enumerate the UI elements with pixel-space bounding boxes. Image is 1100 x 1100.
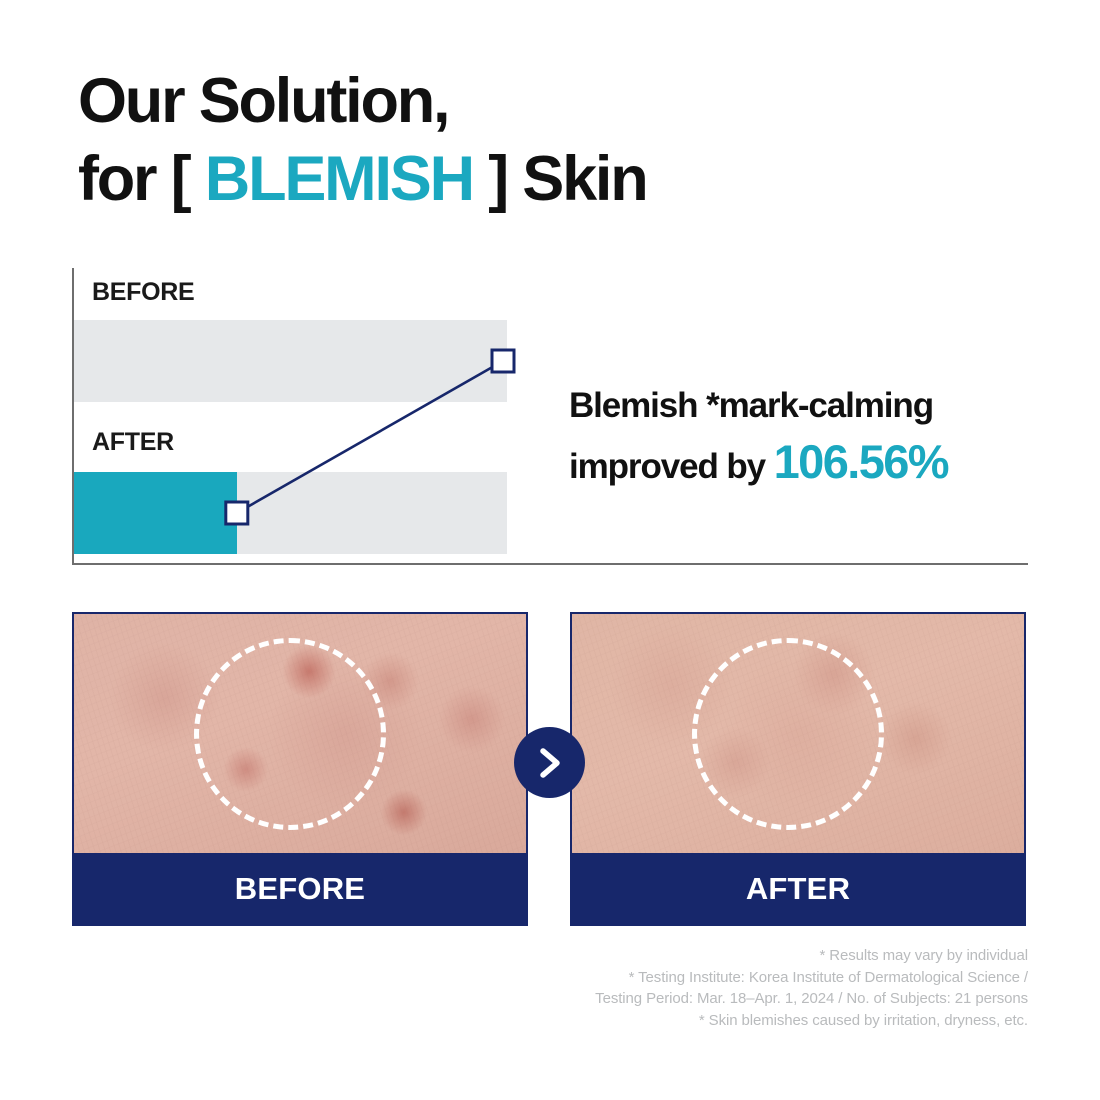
chart-marker-after	[226, 502, 248, 524]
comparison-panel-after: AFTER	[570, 612, 1026, 926]
panel-label-before: BEFORE	[74, 853, 526, 924]
headline-suffix: ] Skin	[473, 144, 647, 214]
page-title: Our Solution, for [ BLEMISH ] Skin	[78, 62, 978, 218]
skin-photo-after	[572, 614, 1024, 853]
headline-prefix: for [	[78, 144, 205, 214]
headline-accent-blemish: BLEMISH	[205, 144, 473, 214]
chevron-right-icon[interactable]	[514, 727, 585, 798]
skin-photo-before	[74, 614, 526, 853]
chart-marker-before	[492, 350, 514, 372]
stat-callout: Blemish *mark-calming improved by 106.56…	[569, 378, 1039, 495]
comparison-panel-before: BEFORE	[72, 612, 528, 926]
stat-value: 106.56%	[774, 435, 948, 488]
headline-line-1: Our Solution,	[78, 62, 978, 140]
stat-line-2: improved by 106.56%	[569, 434, 1039, 495]
footnote-line: * Results may vary by individual	[408, 945, 1028, 967]
footnote-line: * Skin blemishes caused by irritation, d…	[408, 1010, 1028, 1032]
headline-line-2: for [ BLEMISH ] Skin	[78, 140, 978, 218]
highlight-circle-after	[692, 638, 884, 830]
stat-prefix: improved by	[569, 447, 774, 486]
stat-line-1: Blemish *mark-calming	[569, 378, 1039, 434]
chevron-right-glyph	[537, 746, 563, 780]
highlight-circle-before	[194, 638, 386, 830]
footnote-line: * Testing Institute: Korea Institute of …	[408, 967, 1028, 989]
chart-trend-line	[237, 361, 503, 513]
panel-label-after: AFTER	[572, 853, 1024, 924]
footnote-line: Testing Period: Mar. 18–Apr. 1, 2024 / N…	[408, 988, 1028, 1010]
footnotes: * Results may vary by individual * Testi…	[408, 945, 1028, 1031]
